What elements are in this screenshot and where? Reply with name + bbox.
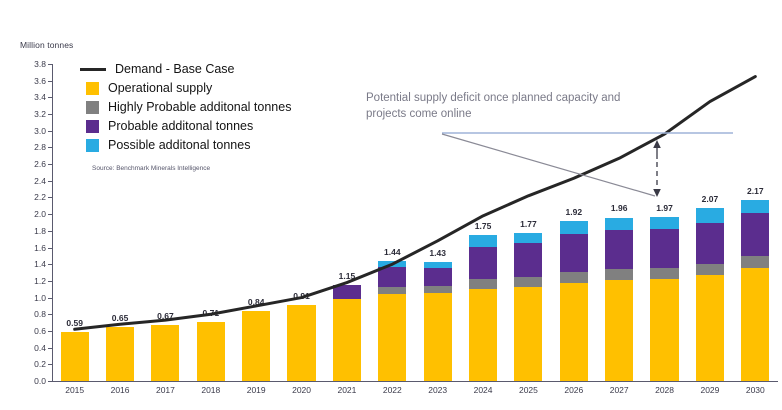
color-swatch-icon <box>86 101 99 114</box>
bar-column[interactable] <box>696 208 724 381</box>
bar-segment[interactable] <box>197 322 225 381</box>
bar-segment[interactable] <box>560 221 588 234</box>
legend-label: Demand - Base Case <box>115 62 235 76</box>
x-axis-tick-label: 2025 <box>519 385 538 395</box>
bar-segment[interactable] <box>605 269 633 280</box>
bar-segment[interactable] <box>424 293 452 381</box>
bar-value-label: 2.17 <box>747 186 764 196</box>
x-axis-tick-label: 2029 <box>700 385 719 395</box>
bar-segment[interactable] <box>696 264 724 275</box>
bar-segment[interactable] <box>650 268 678 279</box>
bar-value-label: 0.65 <box>112 313 129 323</box>
x-axis-tick-label: 2016 <box>111 385 130 395</box>
bar-segment[interactable] <box>741 213 769 256</box>
bar-value-label: 1.77 <box>520 219 537 229</box>
bar-column[interactable] <box>424 262 452 381</box>
bar-segment[interactable] <box>514 287 542 381</box>
y-axis-tick-label: 1.8 <box>34 226 46 236</box>
color-swatch-icon <box>86 120 99 133</box>
bar-segment[interactable] <box>560 283 588 381</box>
x-axis-tick-label: 2026 <box>564 385 583 395</box>
y-axis-tick-label: 3.4 <box>34 92 46 102</box>
bar-column[interactable] <box>514 233 542 381</box>
y-axis-tick-label: 2.4 <box>34 176 46 186</box>
x-axis-line <box>52 381 778 382</box>
bar-column[interactable] <box>151 325 179 381</box>
bar-segment[interactable] <box>650 217 678 230</box>
bar-value-label: 0.67 <box>157 311 174 321</box>
y-axis-tick-label: 1.6 <box>34 243 46 253</box>
bar-column[interactable] <box>242 311 270 381</box>
source-note: Source: Benchmark Minerals Intelligence <box>92 165 210 172</box>
bar-segment[interactable] <box>605 230 633 269</box>
bar-value-label: 1.43 <box>429 248 446 258</box>
bar-column[interactable] <box>197 322 225 381</box>
bar-segment[interactable] <box>741 200 769 213</box>
legend-label: Possible additonal tonnes <box>108 138 250 152</box>
legend-item-demand-base-case[interactable]: Demand - Base Case <box>86 60 416 78</box>
bar-segment[interactable] <box>333 285 361 299</box>
y-axis-tick-label: 0.4 <box>34 343 46 353</box>
bar-segment[interactable] <box>605 280 633 381</box>
x-axis-tick-label: 2019 <box>247 385 266 395</box>
bar-column[interactable] <box>106 327 134 381</box>
y-axis-tick-label: 1.0 <box>34 293 46 303</box>
supply-demand-chart: Million tonnes 0.00.20.40.60.81.01.21.41… <box>0 0 782 410</box>
bar-segment[interactable] <box>333 299 361 381</box>
x-axis-tick-label: 2030 <box>746 385 765 395</box>
bar-segment[interactable] <box>378 267 406 287</box>
x-axis-tick-label: 2028 <box>655 385 674 395</box>
x-axis-tick-label: 2024 <box>474 385 493 395</box>
line-swatch-icon <box>80 68 106 71</box>
bar-column[interactable] <box>650 217 678 381</box>
bar-value-label: 1.15 <box>339 271 356 281</box>
y-axis-tick-label: 3.0 <box>34 126 46 136</box>
supply-deficit-annotation: Potential supply deficit once planned ca… <box>366 90 628 122</box>
bar-value-label: 0.59 <box>66 318 83 328</box>
bar-column[interactable] <box>333 285 361 381</box>
bar-segment[interactable] <box>242 311 270 381</box>
y-axis-tick-label: 0.2 <box>34 359 46 369</box>
bar-column[interactable] <box>605 218 633 382</box>
bar-segment[interactable] <box>61 332 89 381</box>
x-axis-tick-label: 2021 <box>337 385 356 395</box>
bar-value-label: 1.75 <box>475 221 492 231</box>
bar-segment[interactable] <box>378 287 406 295</box>
bar-value-label: 1.97 <box>656 203 673 213</box>
bar-segment[interactable] <box>650 279 678 381</box>
color-swatch-icon <box>86 139 99 152</box>
y-axis-tick-label: 3.8 <box>34 59 46 69</box>
bar-column[interactable] <box>378 261 406 381</box>
bar-column[interactable] <box>469 235 497 381</box>
y-axis-tick <box>48 381 53 382</box>
y-axis-tick-label: 1.2 <box>34 276 46 286</box>
legend-label: Probable additonal tonnes <box>108 119 253 133</box>
bar-segment[interactable] <box>469 235 497 247</box>
bar-segment[interactable] <box>560 234 588 272</box>
x-axis-tick-label: 2018 <box>201 385 220 395</box>
x-axis-tick-label: 2027 <box>610 385 629 395</box>
bar-segment[interactable] <box>424 268 452 286</box>
bar-segment[interactable] <box>106 327 134 381</box>
bar-segment[interactable] <box>560 272 588 283</box>
bar-segment[interactable] <box>514 243 542 276</box>
bar-column[interactable] <box>287 305 315 381</box>
bar-segment[interactable] <box>696 208 724 222</box>
bar-column[interactable] <box>560 221 588 381</box>
y-axis-tick-label: 0.0 <box>34 376 46 386</box>
bar-segment[interactable] <box>469 279 497 289</box>
y-axis-tick-label: 2.6 <box>34 159 46 169</box>
bar-segment[interactable] <box>287 305 315 381</box>
x-axis-tick-label: 2017 <box>156 385 175 395</box>
bar-value-label: 0.71 <box>203 308 220 318</box>
bar-column[interactable] <box>61 332 89 381</box>
bar-value-label: 0.84 <box>248 297 265 307</box>
y-axis-tick-label: 0.6 <box>34 326 46 336</box>
y-axis-tick-label: 2.2 <box>34 192 46 202</box>
bar-segment[interactable] <box>514 277 542 287</box>
bar-segment[interactable] <box>469 247 497 280</box>
y-axis-tick-label: 3.6 <box>34 76 46 86</box>
bar-value-label: 1.92 <box>566 207 583 217</box>
x-axis-tick-label: 2023 <box>428 385 447 395</box>
bar-value-label: 2.07 <box>702 194 719 204</box>
bar-value-label: 1.44 <box>384 247 401 257</box>
bar-value-label: 1.96 <box>611 203 628 213</box>
bar-segment[interactable] <box>650 229 678 268</box>
bar-segment[interactable] <box>469 289 497 381</box>
bar-segment[interactable] <box>696 275 724 381</box>
x-axis-tick-label: 2015 <box>65 385 84 395</box>
color-swatch-icon <box>86 82 99 95</box>
bar-segment[interactable] <box>378 294 406 381</box>
y-axis-tick-label: 1.4 <box>34 259 46 269</box>
bar-segment[interactable] <box>741 268 769 381</box>
bar-segment[interactable] <box>424 286 452 294</box>
legend-label: Highly Probable additonal tonnes <box>108 100 291 114</box>
bar-segment[interactable] <box>514 233 542 243</box>
y-axis-tick-label: 2.0 <box>34 209 46 219</box>
bar-value-label: 0.91 <box>293 291 310 301</box>
bar-column[interactable] <box>741 200 769 381</box>
y-axis-tick-label: 3.2 <box>34 109 46 119</box>
legend-item-possible[interactable]: Possible additonal tonnes <box>86 136 416 154</box>
y-axis-tick-label: 0.8 <box>34 309 46 319</box>
x-axis-tick-label: 2022 <box>383 385 402 395</box>
bar-segment[interactable] <box>605 218 633 231</box>
y-axis-tick-label: 2.8 <box>34 142 46 152</box>
bar-segment[interactable] <box>741 256 769 268</box>
legend-label: Operational supply <box>108 81 212 95</box>
y-axis-unit-label: Million tonnes <box>20 40 73 50</box>
x-axis-tick-label: 2020 <box>292 385 311 395</box>
bar-segment[interactable] <box>696 223 724 265</box>
bar-segment[interactable] <box>151 325 179 381</box>
